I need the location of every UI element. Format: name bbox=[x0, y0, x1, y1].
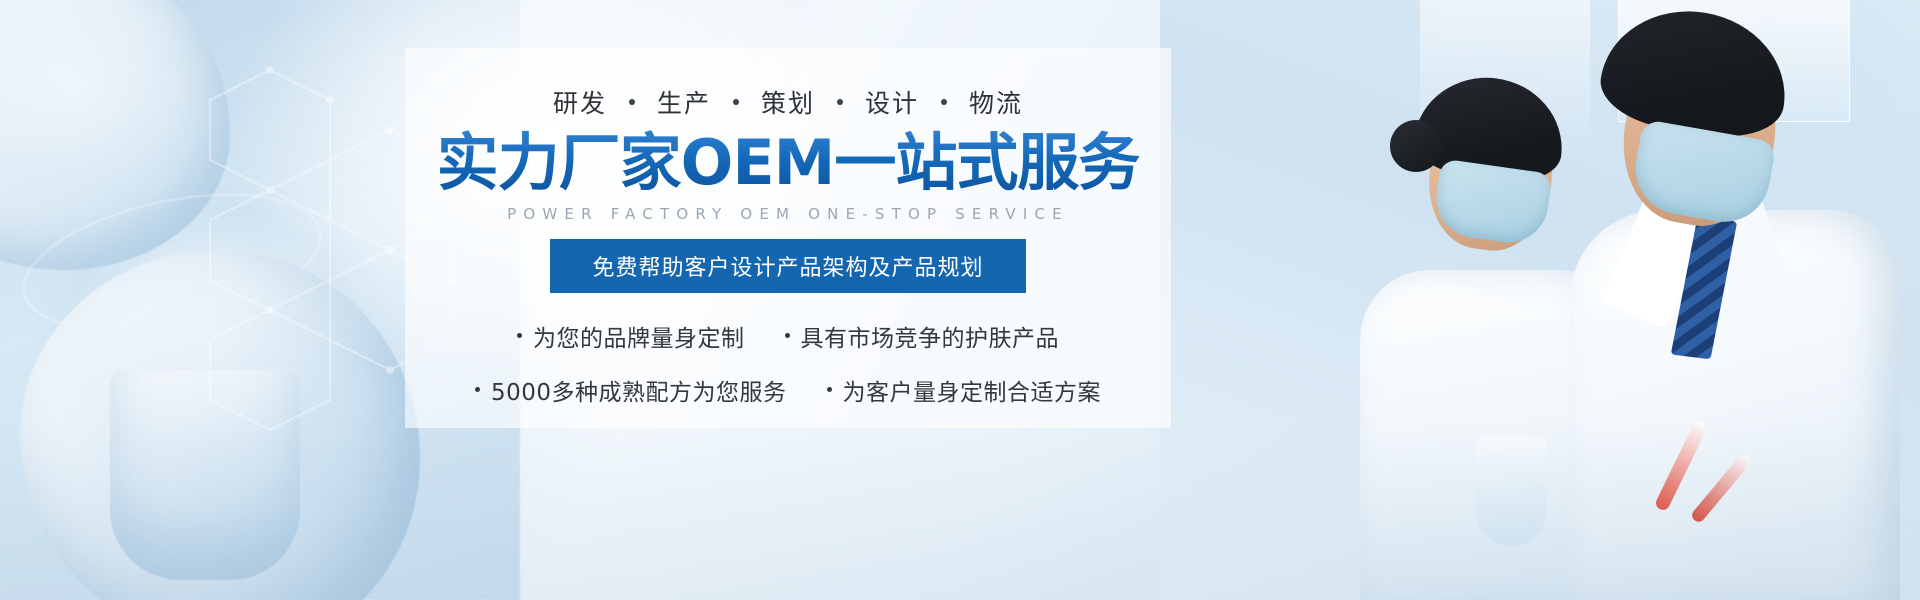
bullet-item: 具有市场竞争的护肤产品 bbox=[785, 319, 1060, 353]
keyword-separator-dot bbox=[837, 99, 843, 105]
bullet-dot-icon bbox=[827, 387, 832, 392]
keyword-separator-dot bbox=[629, 99, 635, 105]
promotional-banner: 研发 生产 策划 设计 物流 实力厂家OEM一站式服务 POWER FACTOR… bbox=[0, 0, 1920, 600]
keyword-separator-dot bbox=[733, 99, 739, 105]
bullet-dot-icon bbox=[785, 333, 790, 338]
banner-subtitle-english: POWER FACTORY OEM ONE-STOP SERVICE bbox=[507, 205, 1069, 223]
keyword-item: 研发 bbox=[553, 84, 607, 120]
banner-headline: 实力厂家OEM一站式服务 bbox=[437, 130, 1140, 197]
bullet-label: 为客户量身定制合适方案 bbox=[843, 373, 1102, 407]
banner-content: 研发 生产 策划 设计 物流 实力厂家OEM一站式服务 POWER FACTOR… bbox=[405, 48, 1171, 428]
cta-button[interactable]: 免费帮助客户设计产品架构及产品规划 bbox=[550, 239, 1025, 293]
bullet-dot-icon bbox=[475, 387, 480, 392]
bullet-item: 5000多种成熟配方为您服务 bbox=[475, 373, 787, 407]
bullet-label: 具有市场竞争的护肤产品 bbox=[801, 319, 1060, 353]
keyword-item: 策划 bbox=[761, 84, 815, 120]
keyword-row: 研发 生产 策划 设计 物流 bbox=[553, 84, 1023, 120]
bullet-label: 5000多种成熟配方为您服务 bbox=[491, 373, 787, 407]
keyword-item: 设计 bbox=[865, 84, 919, 120]
bullet-item: 为您的品牌量身定制 bbox=[517, 319, 745, 353]
keyword-item: 物流 bbox=[969, 84, 1023, 120]
bullet-item: 为客户量身定制合适方案 bbox=[827, 373, 1102, 407]
bullet-row: 5000多种成熟配方为您服务 为客户量身定制合适方案 bbox=[475, 373, 1101, 407]
keyword-separator-dot bbox=[941, 99, 947, 105]
feature-bullet-list: 为您的品牌量身定制 具有市场竞争的护肤产品 5000多种成熟配方为您服务 为客户… bbox=[405, 319, 1171, 407]
bullet-dot-icon bbox=[517, 333, 522, 338]
bullet-row: 为您的品牌量身定制 具有市场竞争的护肤产品 bbox=[517, 319, 1059, 353]
bullet-label: 为您的品牌量身定制 bbox=[533, 319, 745, 353]
keyword-item: 生产 bbox=[657, 84, 711, 120]
